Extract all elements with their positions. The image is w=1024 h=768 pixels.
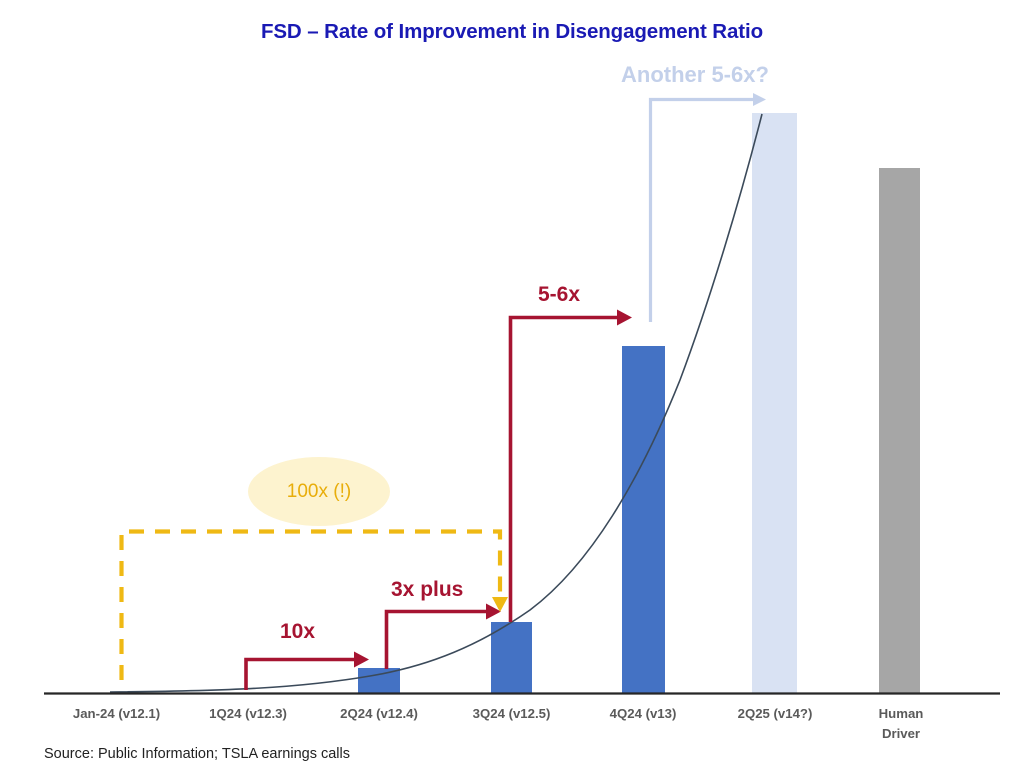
annotation-label-another-5-6x: Another 5-6x?: [621, 62, 769, 88]
source-note: Source: Public Information; TSLA earning…: [44, 746, 350, 762]
x-axis-label-1q24: 1Q24 (v12.3): [183, 704, 313, 724]
x-axis-label-3q24: 3Q24 (v12.5): [446, 704, 577, 724]
x-axis-label-human-driver: Human Driver: [842, 704, 960, 744]
annotation-label-100x: 100x (!): [287, 481, 351, 503]
annotation-arrow-5-6x: [511, 310, 633, 623]
annotation-label-10x: 10x: [280, 620, 315, 644]
x-axis-label-4q24: 4Q24 (v13): [581, 704, 705, 724]
bar-3q24: [491, 622, 532, 693]
annotation-label-3x-plus: 3x plus: [391, 578, 463, 602]
bar-human-driver: [879, 168, 920, 693]
bar-2q25: [752, 113, 797, 693]
bar-4q24: [622, 346, 665, 693]
x-axis-label-2q25: 2Q25 (v14?): [710, 704, 840, 724]
annotation-ellipse-100x: 100x (!): [248, 457, 390, 526]
chart-graphics: [0, 0, 1024, 768]
chart-canvas: FSD – Rate of Improvement in Disengageme…: [0, 0, 1024, 768]
annotation-arrow-another-5-6x: [651, 93, 767, 322]
x-axis-label-2q24: 2Q24 (v12.4): [314, 704, 444, 724]
annotation-label-5-6x: 5-6x: [538, 283, 580, 307]
annotation-arrow-3x-plus: [387, 604, 502, 670]
x-axis-label-jan-24: Jan-24 (v12.1): [49, 704, 184, 724]
